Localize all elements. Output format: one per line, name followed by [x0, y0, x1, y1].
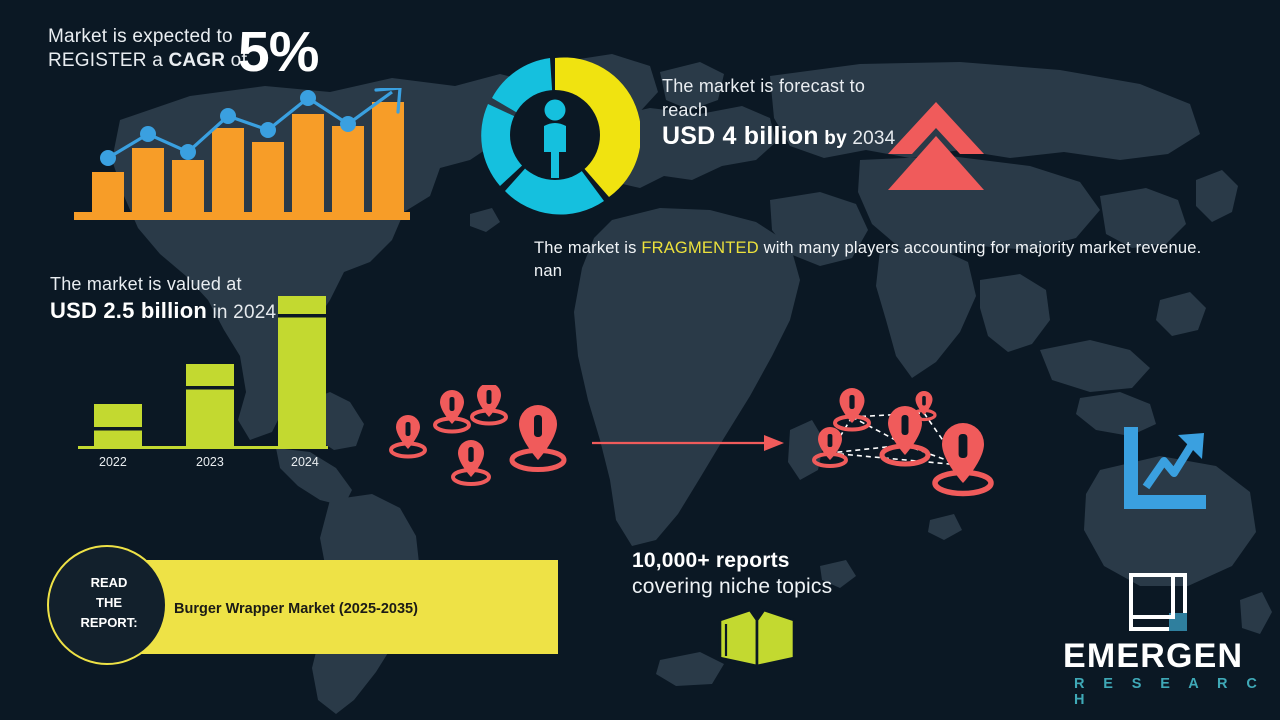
growth-chart-baseline: [74, 212, 410, 220]
cagr-line-1: Market is expected to: [48, 26, 233, 48]
bar-2024: [278, 296, 326, 446]
bar-2023: [186, 364, 234, 446]
market-share-donut-icon: [470, 50, 640, 220]
fragmented-keyword: FRAGMENTED: [641, 239, 759, 257]
cagr-value: 5%: [238, 22, 318, 82]
read-report-line-1: READ: [49, 573, 169, 593]
read-report-circle[interactable]: READ THE REPORT:: [47, 545, 167, 665]
right-arrow-icon: [592, 430, 788, 456]
map-pin-small-2: [435, 390, 469, 432]
forecast-line-2: reach: [662, 100, 708, 121]
bar-2022: [94, 404, 142, 446]
bar-2022-divider: [94, 427, 142, 431]
forecast-line-1: The market is forecast to: [662, 76, 865, 97]
forecast-value-row: USD 4 billion by 2034: [662, 122, 895, 151]
map-pin-cluster-connected: [800, 385, 1015, 505]
book-right-page: [757, 610, 794, 666]
cagr-line-2: REGISTER a CAGR of: [48, 50, 247, 72]
read-report-line-2: THE: [49, 593, 169, 613]
logo-wordmark: EMERGEN: [1063, 637, 1243, 676]
fragmented-prefix: The market is: [534, 239, 641, 257]
map-pin-node-3: [814, 427, 846, 466]
read-report-label: READ THE REPORT:: [49, 573, 169, 633]
valuation-axis: [78, 446, 328, 449]
bar-2023-divider: [186, 386, 234, 390]
map-pin-small-4: [472, 385, 506, 424]
growth-chart-icon-blue: [1118, 425, 1210, 513]
valuation-year-2022: 2022: [99, 455, 127, 469]
map-pin-cluster-scattered: [380, 385, 580, 495]
valuation-year-2023: 2023: [196, 455, 224, 469]
map-pin-small-3: [453, 440, 489, 484]
logo-square-overlay: [1131, 575, 1173, 617]
valuation-bar-chart: [78, 296, 328, 452]
read-report-line-3: REPORT:: [49, 613, 169, 633]
reports-topics-line: covering niche topics: [632, 575, 832, 599]
forecast-value: USD 4 billion: [662, 122, 819, 150]
valuation-year-2024: 2024: [291, 455, 319, 469]
fragmented-statement: The market is FRAGMENTED with many playe…: [534, 237, 1224, 283]
map-pin-small-1: [391, 415, 425, 457]
emergen-logo-mark: [1128, 572, 1188, 632]
bar-2024-divider: [278, 314, 326, 318]
infographic-canvas: Market is expected to REGISTER a CAGR of…: [0, 0, 1280, 720]
growth-chart-icon: [70, 88, 415, 220]
open-book-icon: [718, 608, 796, 670]
report-title[interactable]: Burger Wrapper Market (2025-2035): [174, 601, 418, 617]
map-pin-large: [512, 405, 564, 470]
up-chevrons-icon: [884, 98, 988, 194]
logo-tagline: R E S E A R C H: [1074, 676, 1280, 708]
zigzag-line: [1146, 441, 1194, 487]
forecast-by-label: by: [819, 128, 853, 149]
reports-count-line: 10,000+ reports: [632, 549, 790, 573]
cagr-prefix: REGISTER a: [48, 50, 168, 71]
valuation-line-1: The market is valued at: [50, 274, 242, 295]
valuation-bars: [94, 296, 326, 446]
cagr-keyword: CAGR: [168, 50, 225, 71]
